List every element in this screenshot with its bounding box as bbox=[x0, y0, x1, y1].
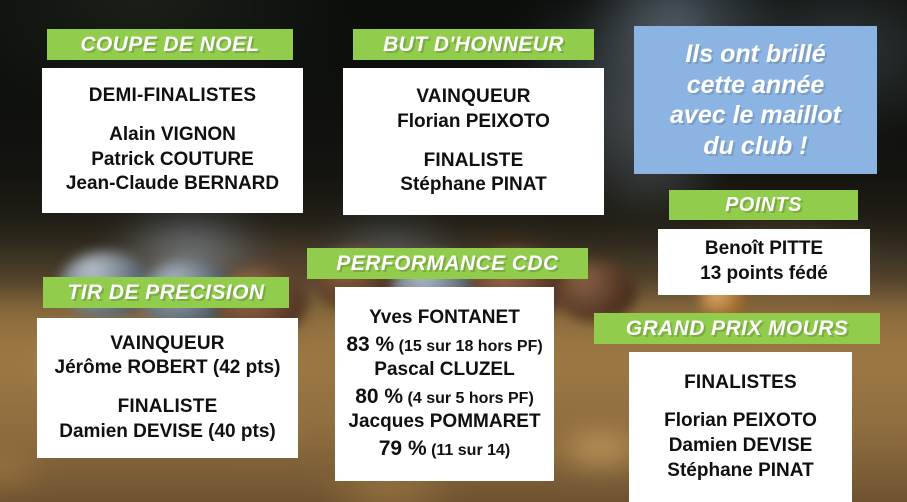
coupe-name-3: Jean-Claude BERNARD bbox=[50, 172, 295, 197]
gp-name-3: Stéphane PINAT bbox=[637, 459, 844, 484]
coupe-name-1: Alain VIGNON bbox=[50, 123, 295, 148]
but-heading-finaliste: FINALISTE bbox=[351, 149, 596, 174]
banner-but-d-honneur: BUT D'HONNEUR bbox=[353, 29, 594, 60]
callout-line-2: cette année bbox=[687, 70, 825, 101]
points-detail: 13 points fédé bbox=[666, 262, 862, 287]
gp-heading: FINALISTES bbox=[637, 371, 844, 396]
perf-score-3: 79 % (11 sur 14) bbox=[343, 435, 546, 462]
perf-pct-3: 79 % bbox=[379, 437, 427, 460]
card-performance-cdc: Yves FONTANET 83 % (15 sur 18 hors PF) P… bbox=[335, 287, 554, 481]
banner-grand-prix-mours-label: GRAND PRIX MOURS bbox=[626, 317, 849, 341]
perf-pct-2: 80 % bbox=[355, 385, 403, 408]
points-name: Benoît PITTE bbox=[666, 237, 862, 262]
card-tir-de-precision: VAINQUEUR Jérôme ROBERT (42 pts) FINALIS… bbox=[37, 318, 298, 458]
callout-line-4: du club ! bbox=[703, 131, 807, 162]
spacer bbox=[637, 395, 844, 409]
gp-name-1: Florian PEIXOTO bbox=[637, 409, 844, 434]
banner-coupe-de-noel-label: COUPE DE NOEL bbox=[80, 33, 259, 57]
banner-grand-prix-mours: GRAND PRIX MOURS bbox=[594, 313, 880, 344]
but-name-finaliste: Stéphane PINAT bbox=[351, 173, 596, 198]
coupe-heading: DEMI-FINALISTES bbox=[50, 84, 295, 109]
perf-name-3: Jacques POMMARET bbox=[343, 410, 546, 435]
perf-name-2: Pascal CLUZEL bbox=[343, 358, 546, 383]
perf-name-1: Yves FONTANET bbox=[343, 306, 546, 331]
tir-heading-finaliste: FINALISTE bbox=[45, 395, 290, 420]
banner-performance-cdc: PERFORMANCE CDC bbox=[307, 248, 588, 279]
spacer bbox=[50, 109, 295, 123]
callout-line-1: Ils ont brillé bbox=[685, 39, 825, 70]
banner-tir-de-precision: TIR DE PRECISION bbox=[43, 277, 289, 308]
perf-detail-1: (15 sur 18 hors PF) bbox=[399, 338, 543, 355]
card-points: Benoît PITTE 13 points fédé bbox=[658, 229, 870, 295]
callout-line-3: avec le maillot bbox=[670, 100, 841, 131]
banner-performance-cdc-label: PERFORMANCE CDC bbox=[336, 252, 558, 276]
but-heading-vainqueur: VAINQUEUR bbox=[351, 85, 596, 110]
banner-tir-de-precision-label: TIR DE PRECISION bbox=[68, 281, 265, 305]
perf-detail-3: (11 sur 14) bbox=[431, 442, 510, 459]
tir-heading-vainqueur: VAINQUEUR bbox=[45, 332, 290, 357]
card-coupe-de-noel: DEMI-FINALISTES Alain VIGNON Patrick COU… bbox=[42, 68, 303, 213]
callout-ils-ont-brille: Ils ont brillé cette année avec le maill… bbox=[634, 26, 877, 174]
card-but-d-honneur: VAINQUEUR Florian PEIXOTO FINALISTE Stép… bbox=[343, 68, 604, 215]
perf-pct-1: 83 % bbox=[346, 333, 394, 356]
spacer bbox=[351, 135, 596, 149]
perf-score-1: 83 % (15 sur 18 hors PF) bbox=[343, 331, 546, 358]
banner-but-d-honneur-label: BUT D'HONNEUR bbox=[383, 33, 564, 57]
spacer bbox=[45, 381, 290, 395]
tir-name-vainqueur: Jérôme ROBERT (42 pts) bbox=[45, 356, 290, 381]
perf-score-2: 80 % (4 sur 5 hors PF) bbox=[343, 383, 546, 410]
but-name-vainqueur: Florian PEIXOTO bbox=[351, 110, 596, 135]
banner-points-label: POINTS bbox=[725, 194, 802, 217]
gp-name-2: Damien DEVISE bbox=[637, 434, 844, 459]
banner-points: POINTS bbox=[669, 190, 858, 220]
perf-detail-2: (4 sur 5 hors PF) bbox=[408, 390, 534, 407]
coupe-name-2: Patrick COUTURE bbox=[50, 148, 295, 173]
tir-name-finaliste: Damien DEVISE (40 pts) bbox=[45, 420, 290, 445]
card-grand-prix-mours: FINALISTES Florian PEIXOTO Damien DEVISE… bbox=[629, 352, 852, 502]
banner-coupe-de-noel: COUPE DE NOEL bbox=[47, 29, 293, 60]
